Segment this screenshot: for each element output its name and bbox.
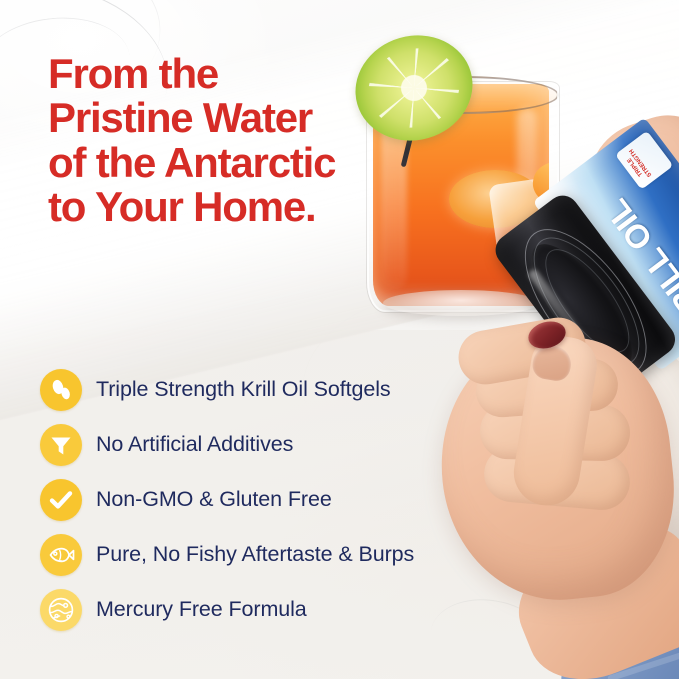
feature-list: Triple Strength Krill Oil Softgels No Ar… [40,362,520,637]
feature-item: Mercury Free Formula [40,582,520,637]
feature-label: Pure, No Fishy Aftertaste & Burps [96,542,414,567]
feature-item: No Artificial Additives [40,417,520,472]
product-marketing-image: From the Pristine Water of the Antarctic… [0,0,679,679]
feature-item: Triple Strength Krill Oil Softgels [40,362,520,417]
feature-label: Non-GMO & Gluten Free [96,487,332,512]
mercury-free-icon [40,589,82,631]
fish-icon [40,534,82,576]
feature-label: No Artificial Additives [96,432,293,457]
funnel-icon [40,424,82,466]
checkmark-icon [40,479,82,521]
feature-item: Non-GMO & Gluten Free [40,472,520,527]
feature-label: Triple Strength Krill Oil Softgels [96,377,391,402]
softgel-capsules-icon [40,369,82,411]
feature-item: Pure, No Fishy Aftertaste & Burps [40,527,520,582]
feature-label: Mercury Free Formula [96,597,307,622]
